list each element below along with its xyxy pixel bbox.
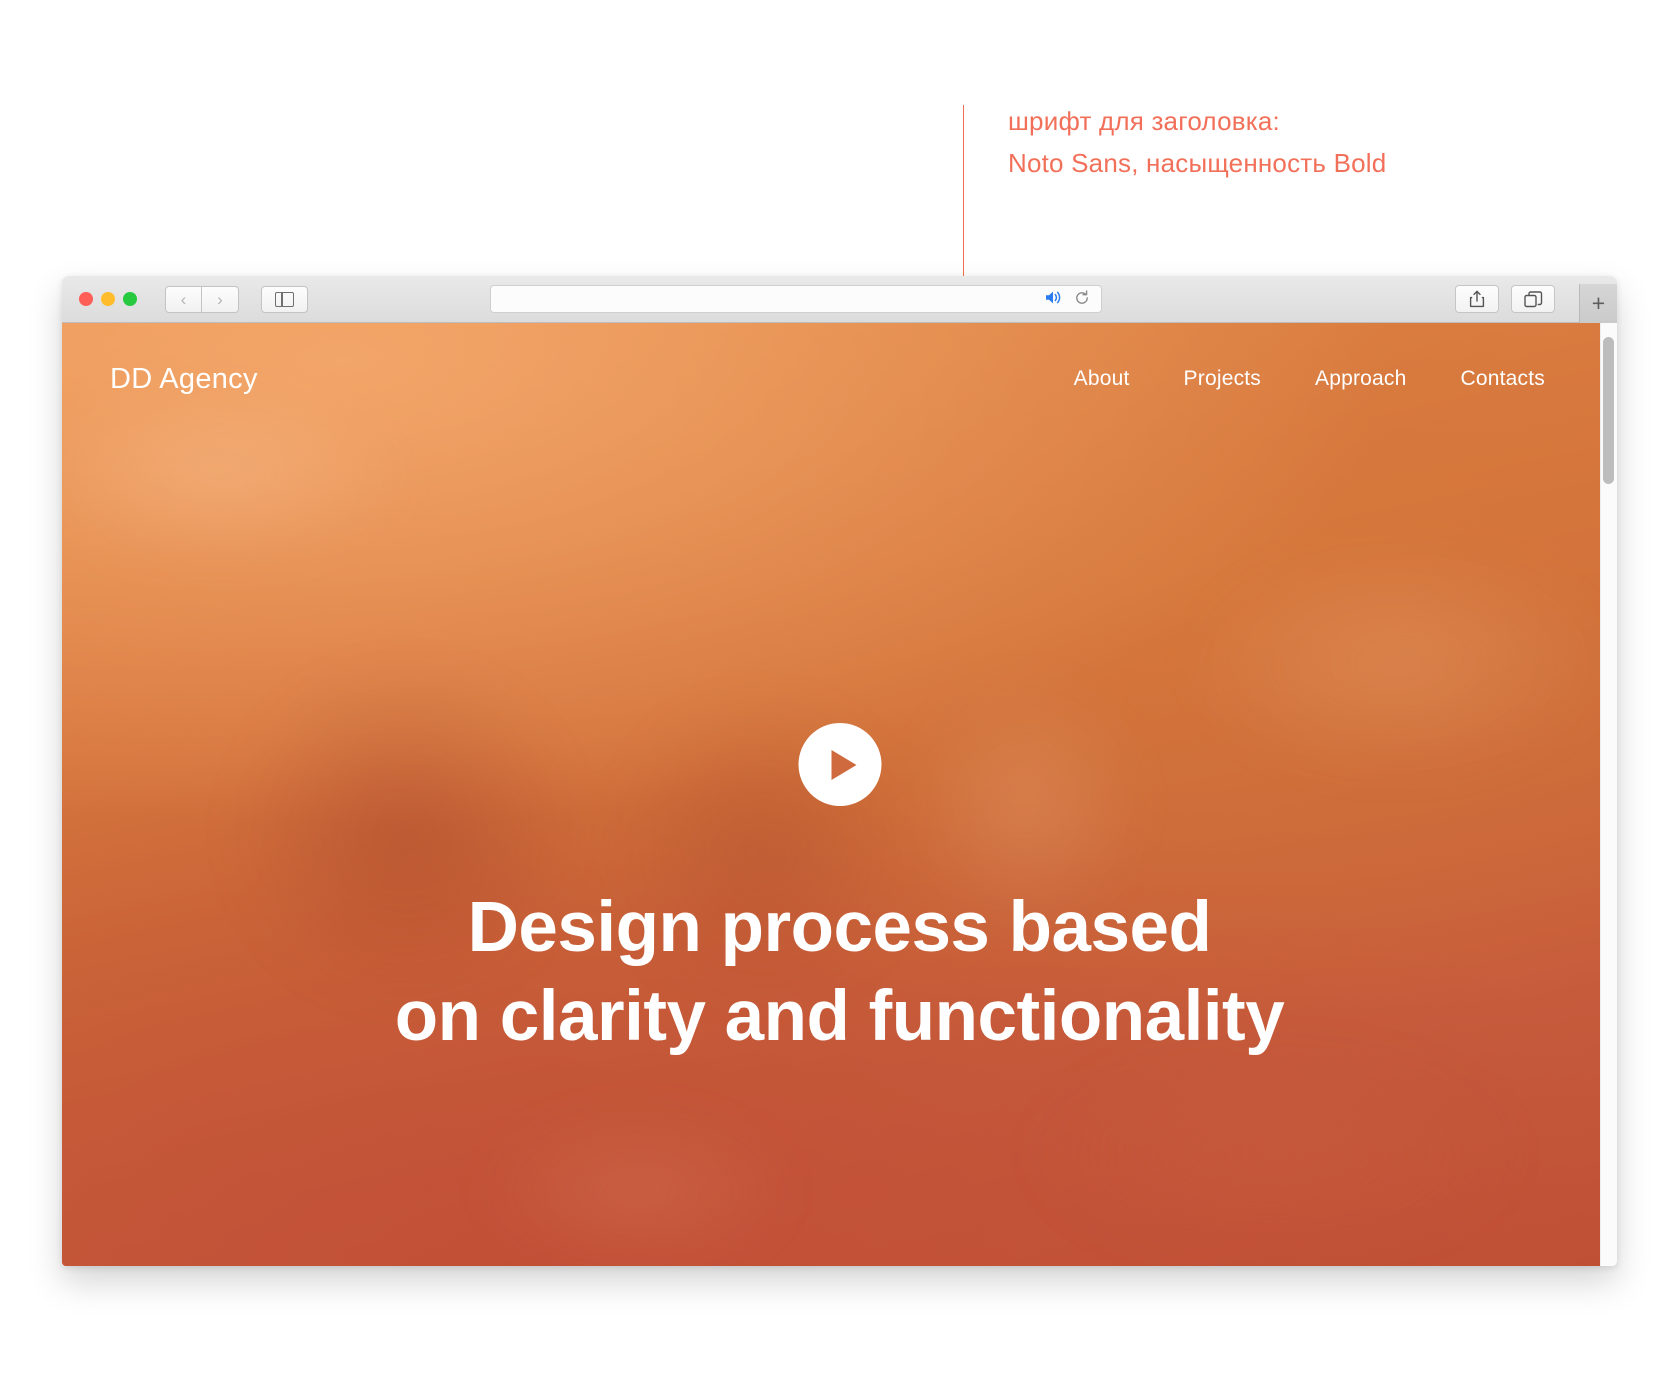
main-navigation: About Projects Approach Contacts bbox=[1074, 367, 1569, 391]
toolbar-right bbox=[1455, 285, 1555, 313]
reload-icon[interactable] bbox=[1074, 290, 1090, 309]
share-icon bbox=[1469, 290, 1485, 308]
annotation-line-1: шрифт для заголовка: bbox=[1008, 100, 1386, 142]
navigation-buttons: ‹ › bbox=[165, 286, 239, 313]
nav-item-about[interactable]: About bbox=[1074, 367, 1130, 391]
browser-titlebar: ‹ › bbox=[62, 276, 1617, 323]
browser-window: ‹ › bbox=[62, 276, 1617, 1266]
speaker-icon-svg bbox=[1044, 290, 1063, 305]
nav-item-projects[interactable]: Projects bbox=[1184, 367, 1261, 391]
chevron-left-icon: ‹ bbox=[181, 291, 187, 308]
sidebar-icon bbox=[275, 292, 294, 307]
play-triangle-icon bbox=[831, 750, 856, 780]
zoom-window-button[interactable] bbox=[123, 292, 137, 306]
close-window-button[interactable] bbox=[79, 292, 93, 306]
play-button-wrapper bbox=[798, 723, 881, 806]
page-scrollbar[interactable] bbox=[1600, 323, 1617, 1266]
chevron-right-icon: › bbox=[217, 291, 223, 308]
new-tab-button[interactable]: + bbox=[1579, 284, 1617, 323]
hero-headline: Design process based on clarity and func… bbox=[62, 883, 1617, 1062]
nav-item-approach[interactable]: Approach bbox=[1315, 367, 1407, 391]
screenshot-root: шрифт для заголовка: Noto Sans, насыщенн… bbox=[0, 0, 1680, 1375]
site-header: DD Agency About Projects Approach Contac… bbox=[62, 323, 1617, 435]
sidebar-toggle-button[interactable] bbox=[261, 286, 308, 313]
annotation-line-2: Noto Sans, насыщенность Bold bbox=[1008, 142, 1386, 184]
address-bar[interactable] bbox=[490, 285, 1102, 313]
share-button[interactable] bbox=[1455, 285, 1499, 313]
hero-headline-line-1: Design process based bbox=[102, 883, 1577, 972]
back-button[interactable]: ‹ bbox=[165, 286, 202, 313]
hero-headline-line-2: on clarity and functionality bbox=[102, 972, 1577, 1061]
reload-icon-svg bbox=[1074, 290, 1090, 306]
minimize-window-button[interactable] bbox=[101, 292, 115, 306]
nav-item-contacts[interactable]: Contacts bbox=[1461, 367, 1545, 391]
annotation-text: шрифт для заголовка: Noto Sans, насыщенн… bbox=[1008, 100, 1386, 184]
tabs-icon bbox=[1524, 291, 1543, 308]
page-viewport: DD Agency About Projects Approach Contac… bbox=[62, 323, 1617, 1266]
play-video-button[interactable] bbox=[798, 723, 881, 806]
forward-button[interactable]: › bbox=[202, 286, 239, 313]
speaker-icon[interactable] bbox=[1044, 290, 1063, 308]
traffic-lights bbox=[79, 292, 137, 306]
tab-overview-button[interactable] bbox=[1511, 285, 1555, 313]
scrollbar-thumb[interactable] bbox=[1603, 337, 1614, 484]
site-logo[interactable]: DD Agency bbox=[110, 363, 258, 396]
